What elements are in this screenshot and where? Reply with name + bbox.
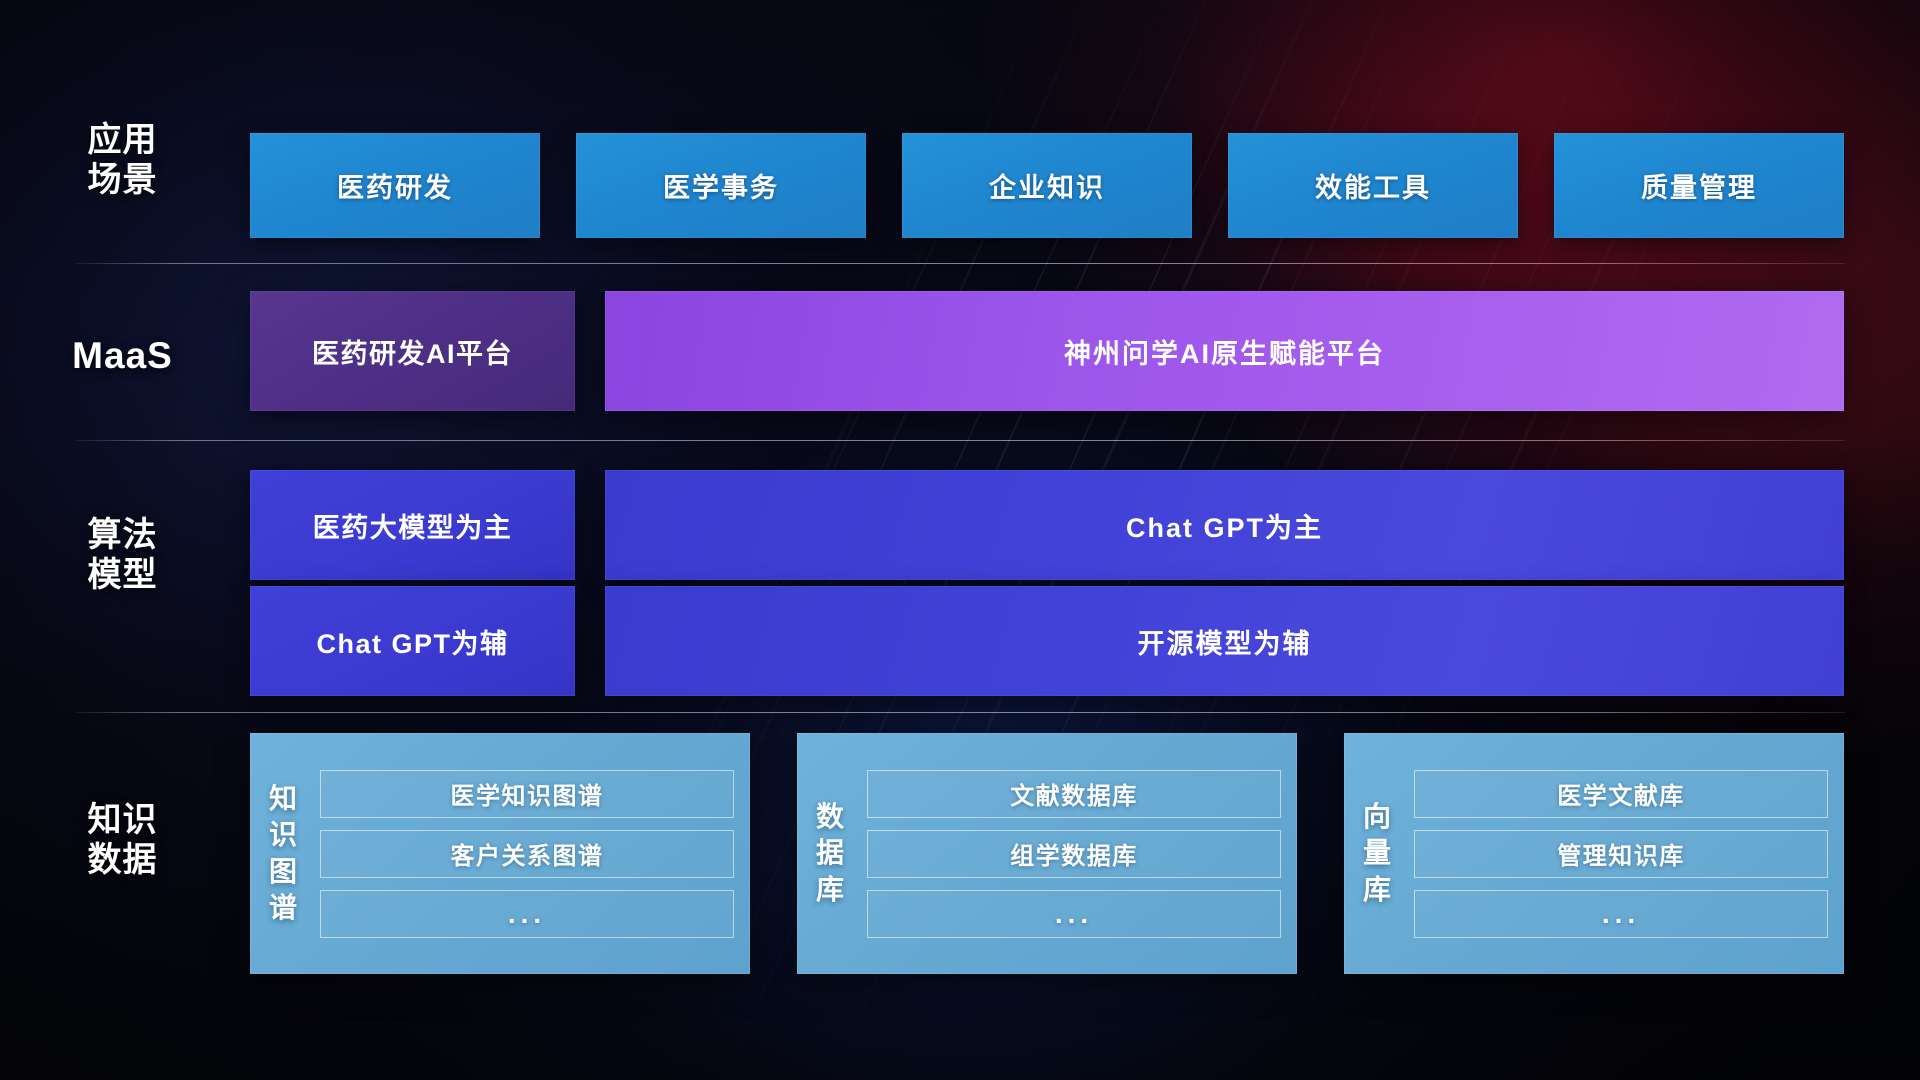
vector-item-3[interactable]: ... <box>1414 890 1828 938</box>
divider-1 <box>75 263 1845 264</box>
app-scenario-label-4: 效能工具 <box>1315 166 1431 205</box>
app-scenario-box-2[interactable]: 医学事务 <box>576 133 866 238</box>
maas-left-label: 医药研发AI平台 <box>312 332 513 371</box>
algorithm-label-primary-left: 医药大模型为主 <box>313 506 513 545</box>
knowledge-panel-database[interactable]: 数 据 库 文献数据库 组学数据库 ... <box>797 733 1297 974</box>
knowledge-graph-item-1[interactable]: 医学知识图谱 <box>320 770 734 818</box>
knowledge-panel-graph-title-char-3: 图 <box>269 854 297 890</box>
row-label-application-scenario: 应用 场景 <box>35 120 210 200</box>
row-label-algo-line-1: 算法 <box>35 515 210 555</box>
row-label-maas-text: MaaS <box>35 334 210 378</box>
knowledge-panel-graph-title-char-1: 知 <box>269 781 297 817</box>
row-label-knowledge-line-1: 知识 <box>35 800 210 840</box>
divider-3 <box>75 712 1845 713</box>
algorithm-box-primary-right[interactable]: Chat GPT为主 <box>605 470 1844 580</box>
vector-item-2[interactable]: 管理知识库 <box>1414 830 1828 878</box>
row-label-line-1: 应用 <box>35 120 210 160</box>
knowledge-panel-database-title-char-1: 数 <box>816 799 844 835</box>
row-label-knowledge-data: 知识 数据 <box>35 800 210 880</box>
database-item-3[interactable]: ... <box>867 890 1281 938</box>
database-item-2[interactable]: 组学数据库 <box>867 830 1281 878</box>
algorithm-box-secondary-right[interactable]: 开源模型为辅 <box>605 586 1844 696</box>
architecture-diagram: 应用 场景 医药研发 医学事务 企业知识 效能工具 质量管理 MaaS 医药研发… <box>0 0 1920 1080</box>
knowledge-panel-vector-items: 医学文献库 管理知识库 ... <box>1410 733 1844 974</box>
app-scenario-box-5[interactable]: 质量管理 <box>1554 133 1844 238</box>
app-scenario-box-3[interactable]: 企业知识 <box>902 133 1192 238</box>
knowledge-panel-database-items: 文献数据库 组学数据库 ... <box>863 733 1297 974</box>
knowledge-panel-vector[interactable]: 向 量 库 医学文献库 管理知识库 ... <box>1344 733 1844 974</box>
knowledge-panel-database-title-char-2: 据 <box>816 835 844 871</box>
vector-item-1[interactable]: 医学文献库 <box>1414 770 1828 818</box>
row-label-line-2: 场景 <box>35 160 210 200</box>
knowledge-panel-graph-items: 医学知识图谱 客户关系图谱 ... <box>316 733 750 974</box>
knowledge-graph-item-3[interactable]: ... <box>320 890 734 938</box>
app-scenario-label-1: 医药研发 <box>337 166 453 205</box>
knowledge-panel-graph[interactable]: 知 识 图 谱 医学知识图谱 客户关系图谱 ... <box>250 733 750 974</box>
app-scenario-box-1[interactable]: 医药研发 <box>250 133 540 238</box>
knowledge-panel-graph-title: 知 识 图 谱 <box>250 733 316 974</box>
row-label-algorithm-model: 算法 模型 <box>35 515 210 595</box>
knowledge-panel-graph-title-char-4: 谱 <box>269 890 297 926</box>
app-scenario-label-5: 质量管理 <box>1641 166 1757 205</box>
knowledge-panel-vector-title-char-3: 库 <box>1363 872 1391 908</box>
maas-box-left[interactable]: 医药研发AI平台 <box>250 291 575 411</box>
knowledge-panel-vector-title: 向 量 库 <box>1344 733 1410 974</box>
row-label-knowledge-line-2: 数据 <box>35 840 210 880</box>
knowledge-graph-item-2[interactable]: 客户关系图谱 <box>320 830 734 878</box>
knowledge-panel-database-title: 数 据 库 <box>797 733 863 974</box>
algorithm-box-primary-left[interactable]: 医药大模型为主 <box>250 470 575 580</box>
divider-2 <box>75 440 1845 441</box>
database-item-1[interactable]: 文献数据库 <box>867 770 1281 818</box>
app-scenario-label-3: 企业知识 <box>989 166 1105 205</box>
knowledge-panel-graph-title-char-2: 识 <box>269 817 297 853</box>
maas-box-right[interactable]: 神州问学AI原生赋能平台 <box>605 291 1844 411</box>
knowledge-panel-database-title-char-3: 库 <box>816 872 844 908</box>
knowledge-panel-vector-title-char-1: 向 <box>1363 799 1391 835</box>
app-scenario-label-2: 医学事务 <box>663 166 779 205</box>
knowledge-panel-vector-title-char-2: 量 <box>1363 835 1391 871</box>
app-scenario-box-4[interactable]: 效能工具 <box>1228 133 1518 238</box>
algorithm-label-primary-right: Chat GPT为主 <box>1126 506 1323 545</box>
row-label-algo-line-2: 模型 <box>35 555 210 595</box>
maas-right-label: 神州问学AI原生赋能平台 <box>1064 332 1385 371</box>
row-label-maas: MaaS <box>35 334 210 378</box>
algorithm-box-secondary-left[interactable]: Chat GPT为辅 <box>250 586 575 696</box>
algorithm-label-secondary-left: Chat GPT为辅 <box>316 622 508 661</box>
algorithm-label-secondary-right: 开源模型为辅 <box>1138 622 1312 661</box>
